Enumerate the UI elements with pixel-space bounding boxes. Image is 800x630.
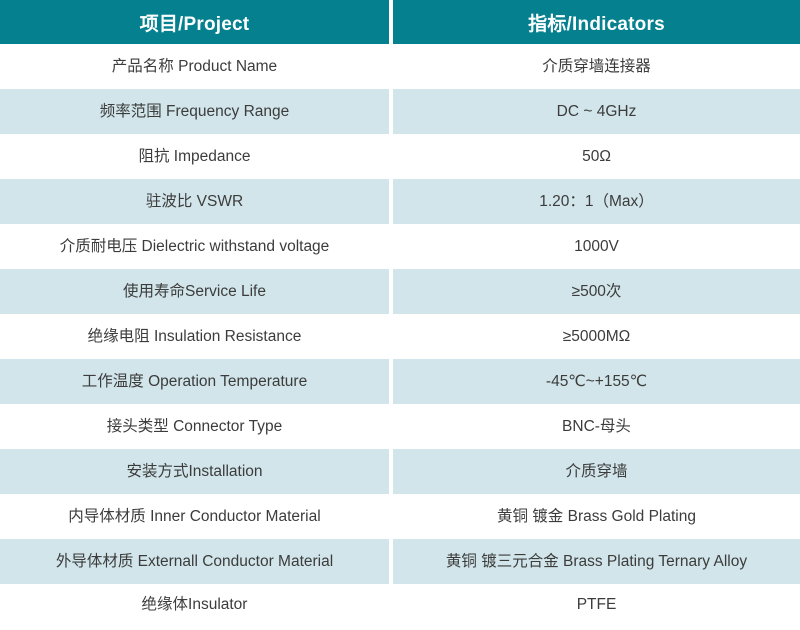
cell-project: 接头类型 Connector Type [0,404,389,449]
table-row: 绝缘体InsulatorPTFE [0,584,800,625]
cell-indicator: BNC-母头 [393,404,800,449]
cell-project: 安装方式Installation [0,449,389,494]
table-body: 产品名称 Product Name介质穿墙连接器频率范围 Frequency R… [0,44,800,625]
cell-project: 频率范围 Frequency Range [0,89,389,134]
column-header-project: 项目/Project [0,0,389,44]
specification-table: 项目/Project 指标/Indicators 产品名称 Product Na… [0,0,800,625]
table-row: 安装方式Installation介质穿墙 [0,449,800,494]
table-row: 内导体材质 Inner Conductor Material黄铜 镀金 Bras… [0,494,800,539]
table-row: 绝缘电阻 Insulation Resistance≥5000MΩ [0,314,800,359]
cell-indicator: PTFE [393,584,800,625]
cell-indicator: 1.20：1（Max） [393,179,800,224]
cell-indicator: ≥500次 [393,269,800,314]
cell-project: 介质耐电压 Dielectric withstand voltage [0,224,389,269]
cell-project: 阻抗 Impedance [0,134,389,179]
cell-indicator: 50Ω [393,134,800,179]
cell-project: 驻波比 VSWR [0,179,389,224]
table-header: 项目/Project 指标/Indicators [0,0,800,44]
table-row: 驻波比 VSWR1.20：1（Max） [0,179,800,224]
table-row: 工作温度 Operation Temperature-45℃~+155℃ [0,359,800,404]
cell-indicator: DC ~ 4GHz [393,89,800,134]
cell-indicator: 黄铜 镀金 Brass Gold Plating [393,494,800,539]
column-header-indicators: 指标/Indicators [393,0,800,44]
cell-indicator: 介质穿墙连接器 [393,44,800,89]
cell-project: 绝缘电阻 Insulation Resistance [0,314,389,359]
cell-project: 工作温度 Operation Temperature [0,359,389,404]
table-row: 介质耐电压 Dielectric withstand voltage1000V [0,224,800,269]
cell-project: 外导体材质 Externall Conductor Material [0,539,389,584]
table-row: 接头类型 Connector TypeBNC-母头 [0,404,800,449]
table-row: 使用寿命Service Life≥500次 [0,269,800,314]
cell-indicator: 介质穿墙 [393,449,800,494]
header-row: 项目/Project 指标/Indicators [0,0,800,44]
table-row: 频率范围 Frequency RangeDC ~ 4GHz [0,89,800,134]
cell-project: 内导体材质 Inner Conductor Material [0,494,389,539]
cell-indicator: 1000V [393,224,800,269]
cell-project: 绝缘体Insulator [0,584,389,625]
cell-project: 使用寿命Service Life [0,269,389,314]
table-row: 产品名称 Product Name介质穿墙连接器 [0,44,800,89]
cell-project: 产品名称 Product Name [0,44,389,89]
cell-indicator: ≥5000MΩ [393,314,800,359]
cell-indicator: -45℃~+155℃ [393,359,800,404]
cell-indicator: 黄铜 镀三元合金 Brass Plating Ternary Alloy [393,539,800,584]
table-row: 外导体材质 Externall Conductor Material黄铜 镀三元… [0,539,800,584]
table-row: 阻抗 Impedance50Ω [0,134,800,179]
